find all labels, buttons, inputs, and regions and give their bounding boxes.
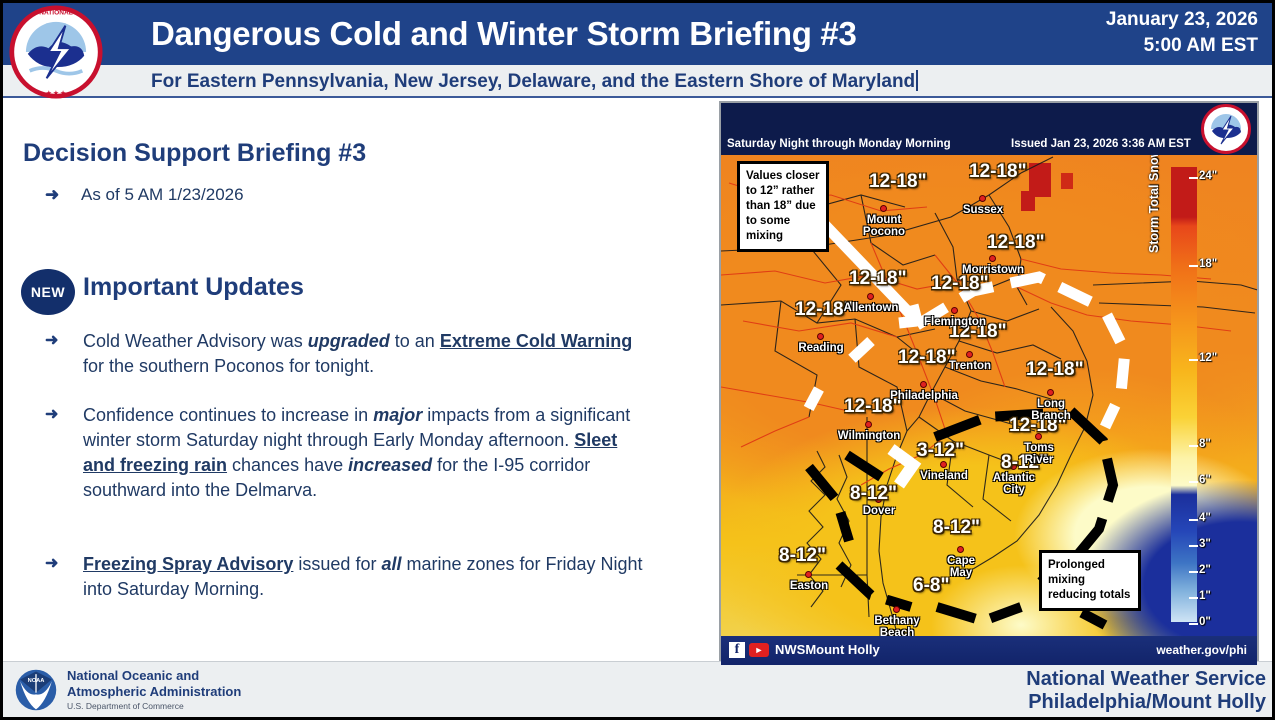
city-label: MountPocono xyxy=(840,214,928,238)
snow-amount-label: 3-12" xyxy=(917,440,964,462)
legend-tick-label: 2" xyxy=(1199,564,1211,576)
bullet-text: Cold Weather Advisory was upgraded to an… xyxy=(83,329,643,379)
arrow-icon: ➜ xyxy=(45,185,59,205)
city-marker-dot xyxy=(867,293,874,300)
city-label: TomsRiver xyxy=(995,442,1083,466)
city-label: Dover xyxy=(835,505,923,517)
legend-tick-label: 4" xyxy=(1199,512,1211,524)
city-marker-dot xyxy=(940,461,947,468)
noaa-logo-icon: NOAA xyxy=(13,668,59,712)
city-marker-dot xyxy=(805,571,812,578)
header-datetime: January 23, 2026 5:00 AM EST xyxy=(1106,7,1258,59)
legend-tick-label: 18" xyxy=(1199,258,1217,270)
legend-tick-label: 12" xyxy=(1199,352,1217,364)
snow-amount-label: 12-18" xyxy=(969,161,1027,183)
city-label: Sussex xyxy=(939,204,1027,216)
city-marker-dot xyxy=(880,205,887,212)
city-marker-dot xyxy=(893,606,900,613)
city-label: Trenton xyxy=(926,360,1014,372)
header-time: 5:00 AM EST xyxy=(1106,33,1258,59)
svg-text:NOAA: NOAA xyxy=(28,678,45,684)
svg-text:★ ★ ★: ★ ★ ★ xyxy=(45,90,66,97)
map-footer-band: f ► NWSMount Holly weather.gov/phi xyxy=(721,636,1257,665)
city-label: Allentown xyxy=(827,302,915,314)
storm-total-snow-map: Storm Total Snow Weather Forecast Office… xyxy=(719,101,1259,667)
as-of-text: As of 5 AM 1/23/2026 xyxy=(81,185,244,205)
map-raster: 12-18"12-18"12-18"12-18"12-18"12-18"12-1… xyxy=(721,155,1259,640)
city-label: Reading xyxy=(777,342,865,354)
snow-amount-label: 8-12" xyxy=(850,483,897,505)
city-marker-dot xyxy=(966,351,973,358)
city-label: Philadelphia xyxy=(880,390,968,402)
city-marker-dot xyxy=(957,546,964,553)
bullet-text: Freezing Spray Advisory issued for all m… xyxy=(83,552,643,602)
map-period: Saturday Night through Monday Morning xyxy=(727,138,951,150)
city-label: LongBranch xyxy=(1007,398,1095,422)
mixing-callout: Prolonged mixing reducing totals xyxy=(1039,550,1141,611)
city-marker-dot xyxy=(951,307,958,314)
map-subtitle-band: Saturday Night through Monday Morning Is… xyxy=(721,138,1257,155)
legend-tick-label: 6" xyxy=(1199,474,1211,486)
noaa-department: U.S. Department of Commerce xyxy=(67,701,184,711)
map-issued: Issued Jan 23, 2026 3:36 AM EST xyxy=(1011,138,1191,150)
legend-axis-label: Storm Total Snow Amounts (in) xyxy=(1147,155,1161,253)
map-header-band xyxy=(721,103,1257,138)
noaa-line-1: National Oceanic and xyxy=(67,668,241,684)
snow-amount-label: 12-18" xyxy=(1026,359,1084,381)
values-callout: Values closer to 12” rather than 18” due… xyxy=(737,161,829,252)
map-url[interactable]: weather.gov/phi xyxy=(1156,643,1247,657)
city-marker-dot xyxy=(865,421,872,428)
social-handle: NWSMount Holly xyxy=(775,642,880,657)
legend-color-bar xyxy=(1171,167,1197,622)
subtitle-text: For Eastern Pennsylvania, New Jersey, De… xyxy=(151,71,915,92)
left-content-panel: Decision Support Briefing #3 ➜ As of 5 A… xyxy=(3,101,703,661)
new-badge: NEW xyxy=(21,269,75,315)
nws-logo-icon: NATIONAL ★ ★ ★ xyxy=(7,5,105,99)
snow-legend: Storm Total Snow Amounts (in) 24"18"12"8… xyxy=(1149,157,1257,638)
legend-tick-label: 1" xyxy=(1199,590,1211,602)
header-date: January 23, 2026 xyxy=(1106,7,1258,33)
city-label: AtlanticCity xyxy=(970,472,1058,496)
legend-tick-label: 24" xyxy=(1199,170,1217,182)
arrow-icon: ➜ xyxy=(45,553,58,573)
city-label: Easton xyxy=(765,580,853,592)
noaa-name: National Oceanic and Atmospheric Adminis… xyxy=(67,668,241,700)
city-marker-dot xyxy=(1047,389,1054,396)
city-marker-dot xyxy=(989,255,996,262)
svg-text:NATIONAL: NATIONAL xyxy=(39,9,73,16)
youtube-icon[interactable]: ► xyxy=(749,643,769,657)
city-label: Morristown xyxy=(949,264,1037,276)
office-footer: National Weather Service Philadelphia/Mo… xyxy=(1026,668,1266,714)
snow-amount-label: 12-18" xyxy=(869,171,927,193)
legend-tick-label: 8" xyxy=(1199,438,1211,450)
legend-tick-label: 0" xyxy=(1199,616,1211,628)
office-line-2: Philadelphia/Mount Holly xyxy=(1026,691,1266,714)
city-marker-dot xyxy=(979,195,986,202)
arrow-icon: ➜ xyxy=(45,330,58,350)
city-label: CapeMay xyxy=(917,555,1005,579)
subtitle-area: For Eastern Pennsylvania, New Jersey, De… xyxy=(151,66,918,97)
nws-logo-icon xyxy=(1199,104,1253,154)
city-marker-dot xyxy=(920,381,927,388)
noaa-line-2: Atmospheric Administration xyxy=(67,684,241,700)
snow-amount-label: 12-18" xyxy=(931,273,989,295)
snow-amount-label: 12-18" xyxy=(987,232,1045,254)
city-label: Wilmington xyxy=(825,430,913,442)
city-label: Flemington xyxy=(911,316,999,328)
legend-tick-label: 3" xyxy=(1199,538,1211,550)
snow-amount-label: 8-12" xyxy=(933,517,980,539)
snow-amount-label: 12-18" xyxy=(849,268,907,290)
briefing-slide: NATIONAL ★ ★ ★ Dangerous Cold and Winter… xyxy=(0,0,1275,720)
city-marker-dot xyxy=(817,333,824,340)
footer-bar: NOAA National Oceanic and Atmospheric Ad… xyxy=(3,661,1275,717)
text-cursor xyxy=(916,70,918,91)
briefing-heading: Decision Support Briefing #3 xyxy=(23,139,366,168)
updates-heading: Important Updates xyxy=(83,273,304,302)
snow-amount-label: 8-12" xyxy=(779,545,826,567)
arrow-icon: ➜ xyxy=(45,404,58,424)
office-line-1: National Weather Service xyxy=(1026,668,1266,691)
page-title: Dangerous Cold and Winter Storm Briefing… xyxy=(151,7,1031,61)
facebook-icon[interactable]: f xyxy=(729,642,745,658)
bullet-text: Confidence continues to increase in majo… xyxy=(83,403,643,503)
